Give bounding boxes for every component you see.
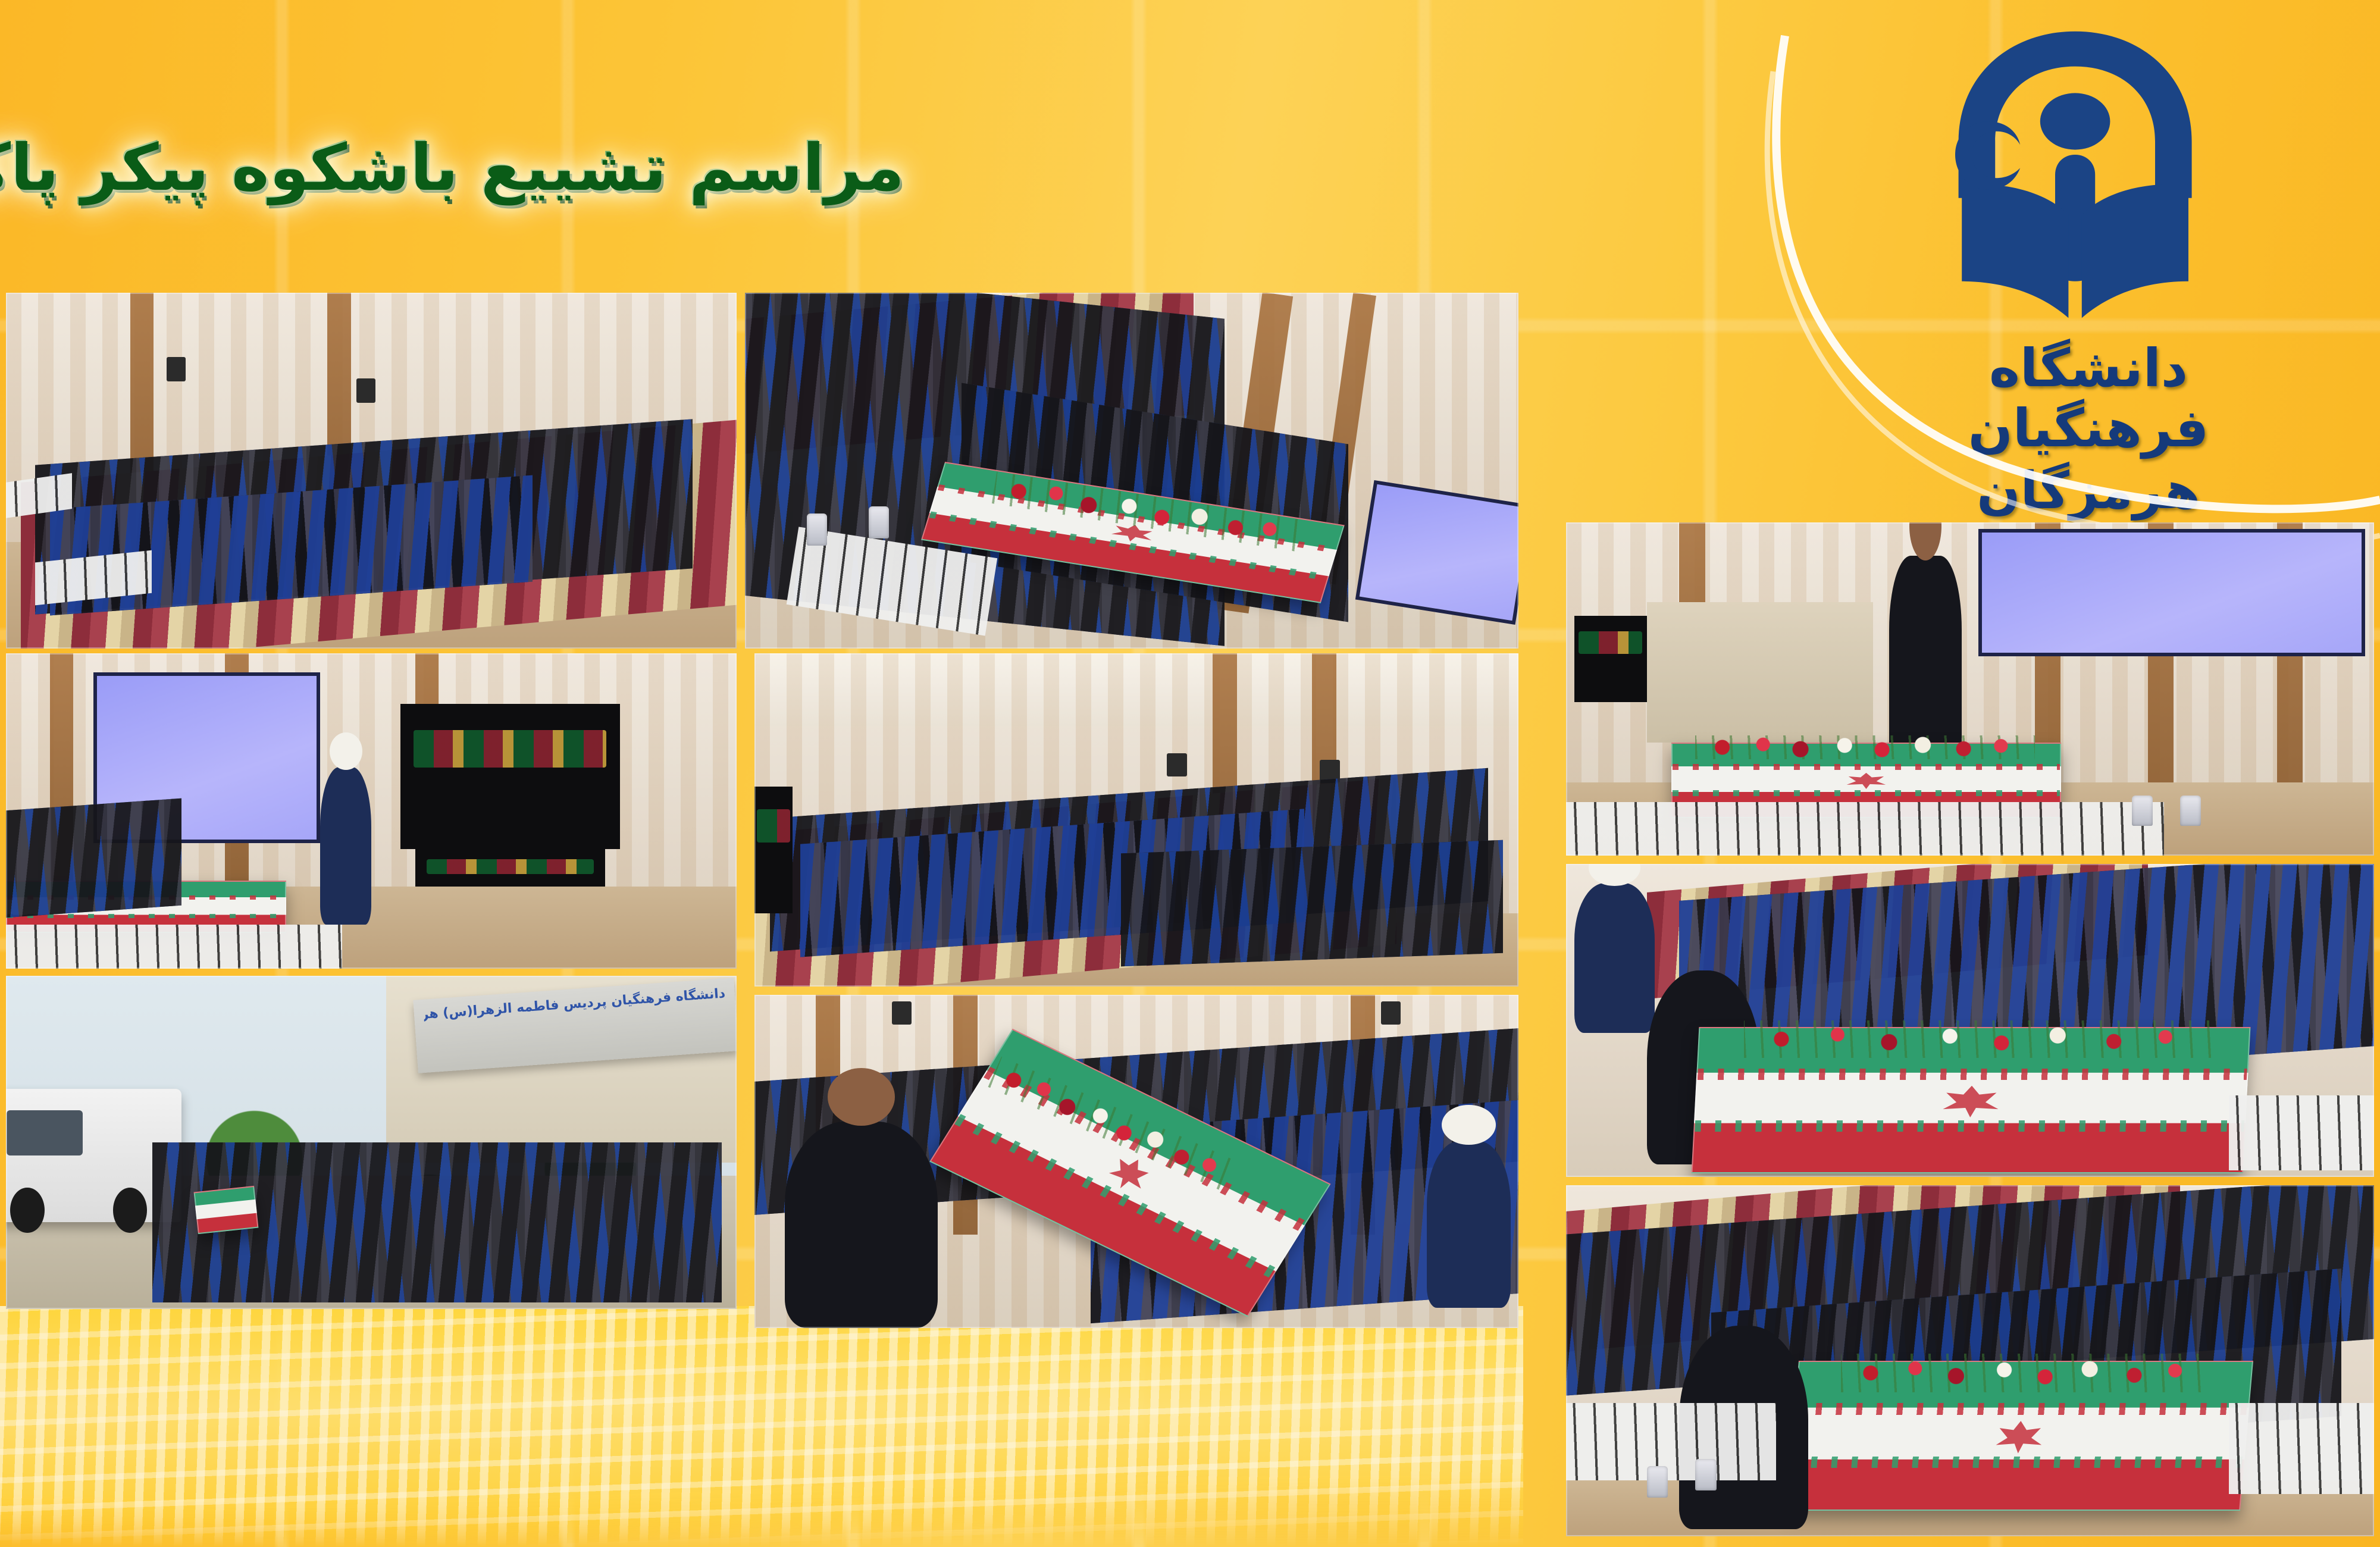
yellow-brush-stroke-decor [0, 1306, 1523, 1547]
photo-boys-paying-respects-at-casket [1566, 864, 2374, 1177]
photo-cleric-speaking-with-projector [6, 653, 737, 969]
photo-ambulance-arrival-outside-campus: دانشگاه فرهنگیان پردیس فاطمه الزهرا(س) ه… [6, 976, 737, 1309]
photo-women-mourning-final-farewell [1566, 1185, 2374, 1536]
farhangian-emblem-icon [1922, 5, 2255, 338]
photo-auditorium-seated-audience [6, 293, 737, 649]
photo-standing-crowd-hall-wide [754, 653, 1518, 987]
photo-speaker-on-stage-with-casket [1566, 522, 2374, 856]
university-logo: دانشگاه فرهنگیان هرمزگان [1922, 5, 2255, 528]
poster-canvas: مراسم تشییع باشکوه پیکر پاک شهید خوشنام … [0, 0, 2380, 1547]
logo-caption-line2: هرمزگان [1922, 462, 2255, 521]
logo-caption-line1: دانشگاه فرهنگیان [1922, 338, 2255, 458]
photo-women-mourning-at-casket [745, 293, 1518, 649]
photo-students-gathered-around-casket [754, 995, 1518, 1328]
logo-caption: دانشگاه فرهنگیان هرمزگان [1922, 338, 2255, 521]
